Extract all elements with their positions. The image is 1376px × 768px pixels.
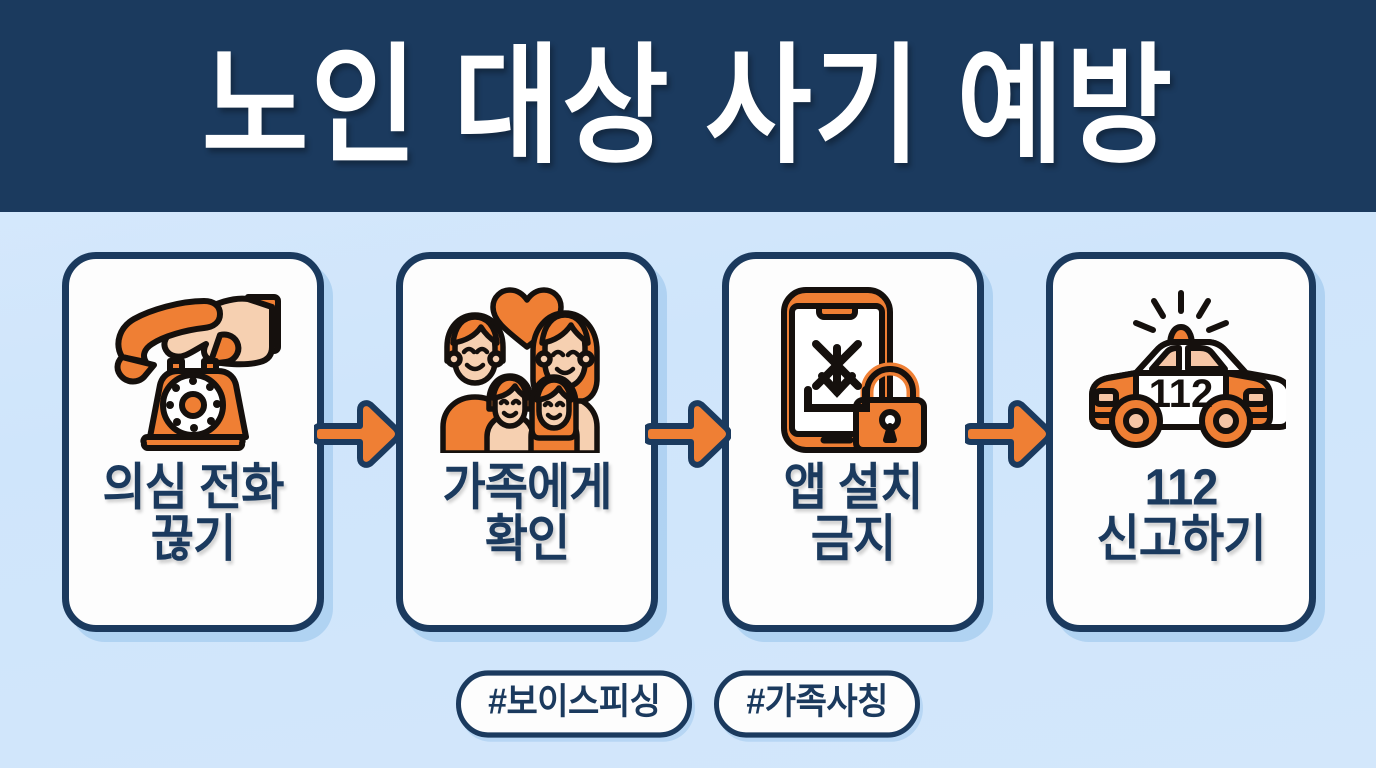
hashtag-family-impersonation[interactable]: #가족사칭 xyxy=(714,670,920,737)
step-card-4[interactable]: 112 112 신고하기 xyxy=(1046,252,1316,632)
header-band: 노인 대상 사기 예방 xyxy=(0,0,1376,212)
step-card-3-label: 앱 설치 금지 xyxy=(778,461,929,566)
step-card-2-label-line1: 가족에게 xyxy=(443,458,612,515)
police-car-icon: 112 xyxy=(1053,283,1309,455)
phone-hangup-icon xyxy=(69,283,317,455)
arrow-step3-to-step4 xyxy=(965,400,1051,472)
infographic-poster: 노인 대상 사기 예방 xyxy=(0,0,1376,768)
step-card-4-label-line1: 112 xyxy=(1145,458,1218,515)
arrow-step2-to-step3 xyxy=(645,400,731,472)
step-card-4-label-line2: 신고하기 xyxy=(1097,513,1266,565)
step-card-3-label-line1: 앱 설치 xyxy=(784,458,923,515)
phone-app-block-lock-icon xyxy=(729,283,977,455)
step-card-3-label-line2: 금지 xyxy=(784,513,923,565)
arrow-step1-to-step2 xyxy=(314,400,400,472)
step-card-2-label-line2: 확인 xyxy=(443,513,612,565)
family-heart-icon xyxy=(403,283,651,455)
step-card-1[interactable]: 의심 전화 끊기 xyxy=(62,252,324,632)
step-card-2[interactable]: 가족에게 확인 xyxy=(396,252,658,632)
step-card-1-label-line2: 끊기 xyxy=(102,513,283,565)
step-card-1-label: 의심 전화 끊기 xyxy=(96,461,289,566)
step-card-1-label-line1: 의심 전화 xyxy=(102,458,283,515)
step-card-4-label: 112 신고하기 xyxy=(1091,461,1272,566)
hashtag-row: #보이스피싱 #가족사칭 xyxy=(0,672,1376,736)
police-car-number: 112 xyxy=(1149,372,1214,416)
page-title: 노인 대상 사기 예방 xyxy=(202,41,1174,171)
step-card-3[interactable]: 앱 설치 금지 xyxy=(722,252,984,632)
step-card-2-label: 가족에게 확인 xyxy=(437,461,618,566)
hashtag-voice-phishing[interactable]: #보이스피싱 xyxy=(456,670,692,737)
